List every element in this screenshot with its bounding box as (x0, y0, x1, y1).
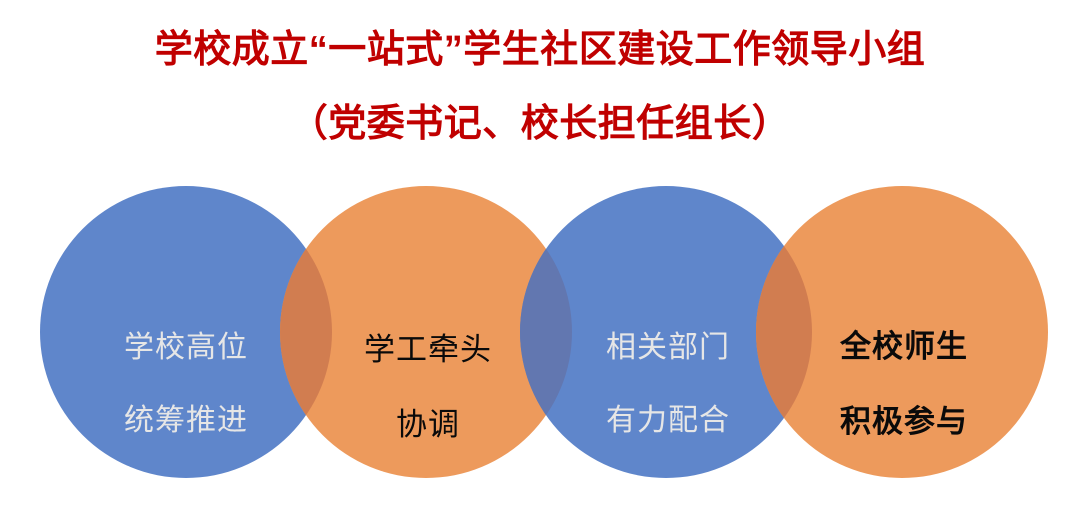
venn-circle-2-line-2: 协调 (318, 406, 538, 444)
venn-circle-1-line-1: 学校高位 (76, 330, 296, 367)
venn-circle-3-line-1: 相关部门 (558, 330, 778, 367)
venn-circle-4-line-1: 全校师生 (794, 328, 1014, 366)
venn-circle-1-line-2: 统筹推进 (76, 403, 296, 440)
venn-diagram: 学校高位 统筹推进 学工牵头 协调 相关部门 有力配合 全校师生 积极参与 (0, 0, 1080, 529)
venn-circle-2-label: 学工牵头 协调 (318, 293, 538, 482)
venn-circle-2-line-1: 学工牵头 (318, 331, 538, 369)
venn-circle-4-label: 全校师生 积极参与 (794, 290, 1014, 479)
slide-canvas: 学校成立“一站式”学生社区建设工作领导小组 （党委书记、校长担任组长） (0, 0, 1080, 529)
venn-circle-3-label: 相关部门 有力配合 (558, 293, 778, 476)
venn-circle-1-label: 学校高位 统筹推进 (76, 293, 296, 476)
venn-circle-3-line-2: 有力配合 (558, 403, 778, 440)
venn-circle-4-line-2: 积极参与 (794, 403, 1014, 441)
